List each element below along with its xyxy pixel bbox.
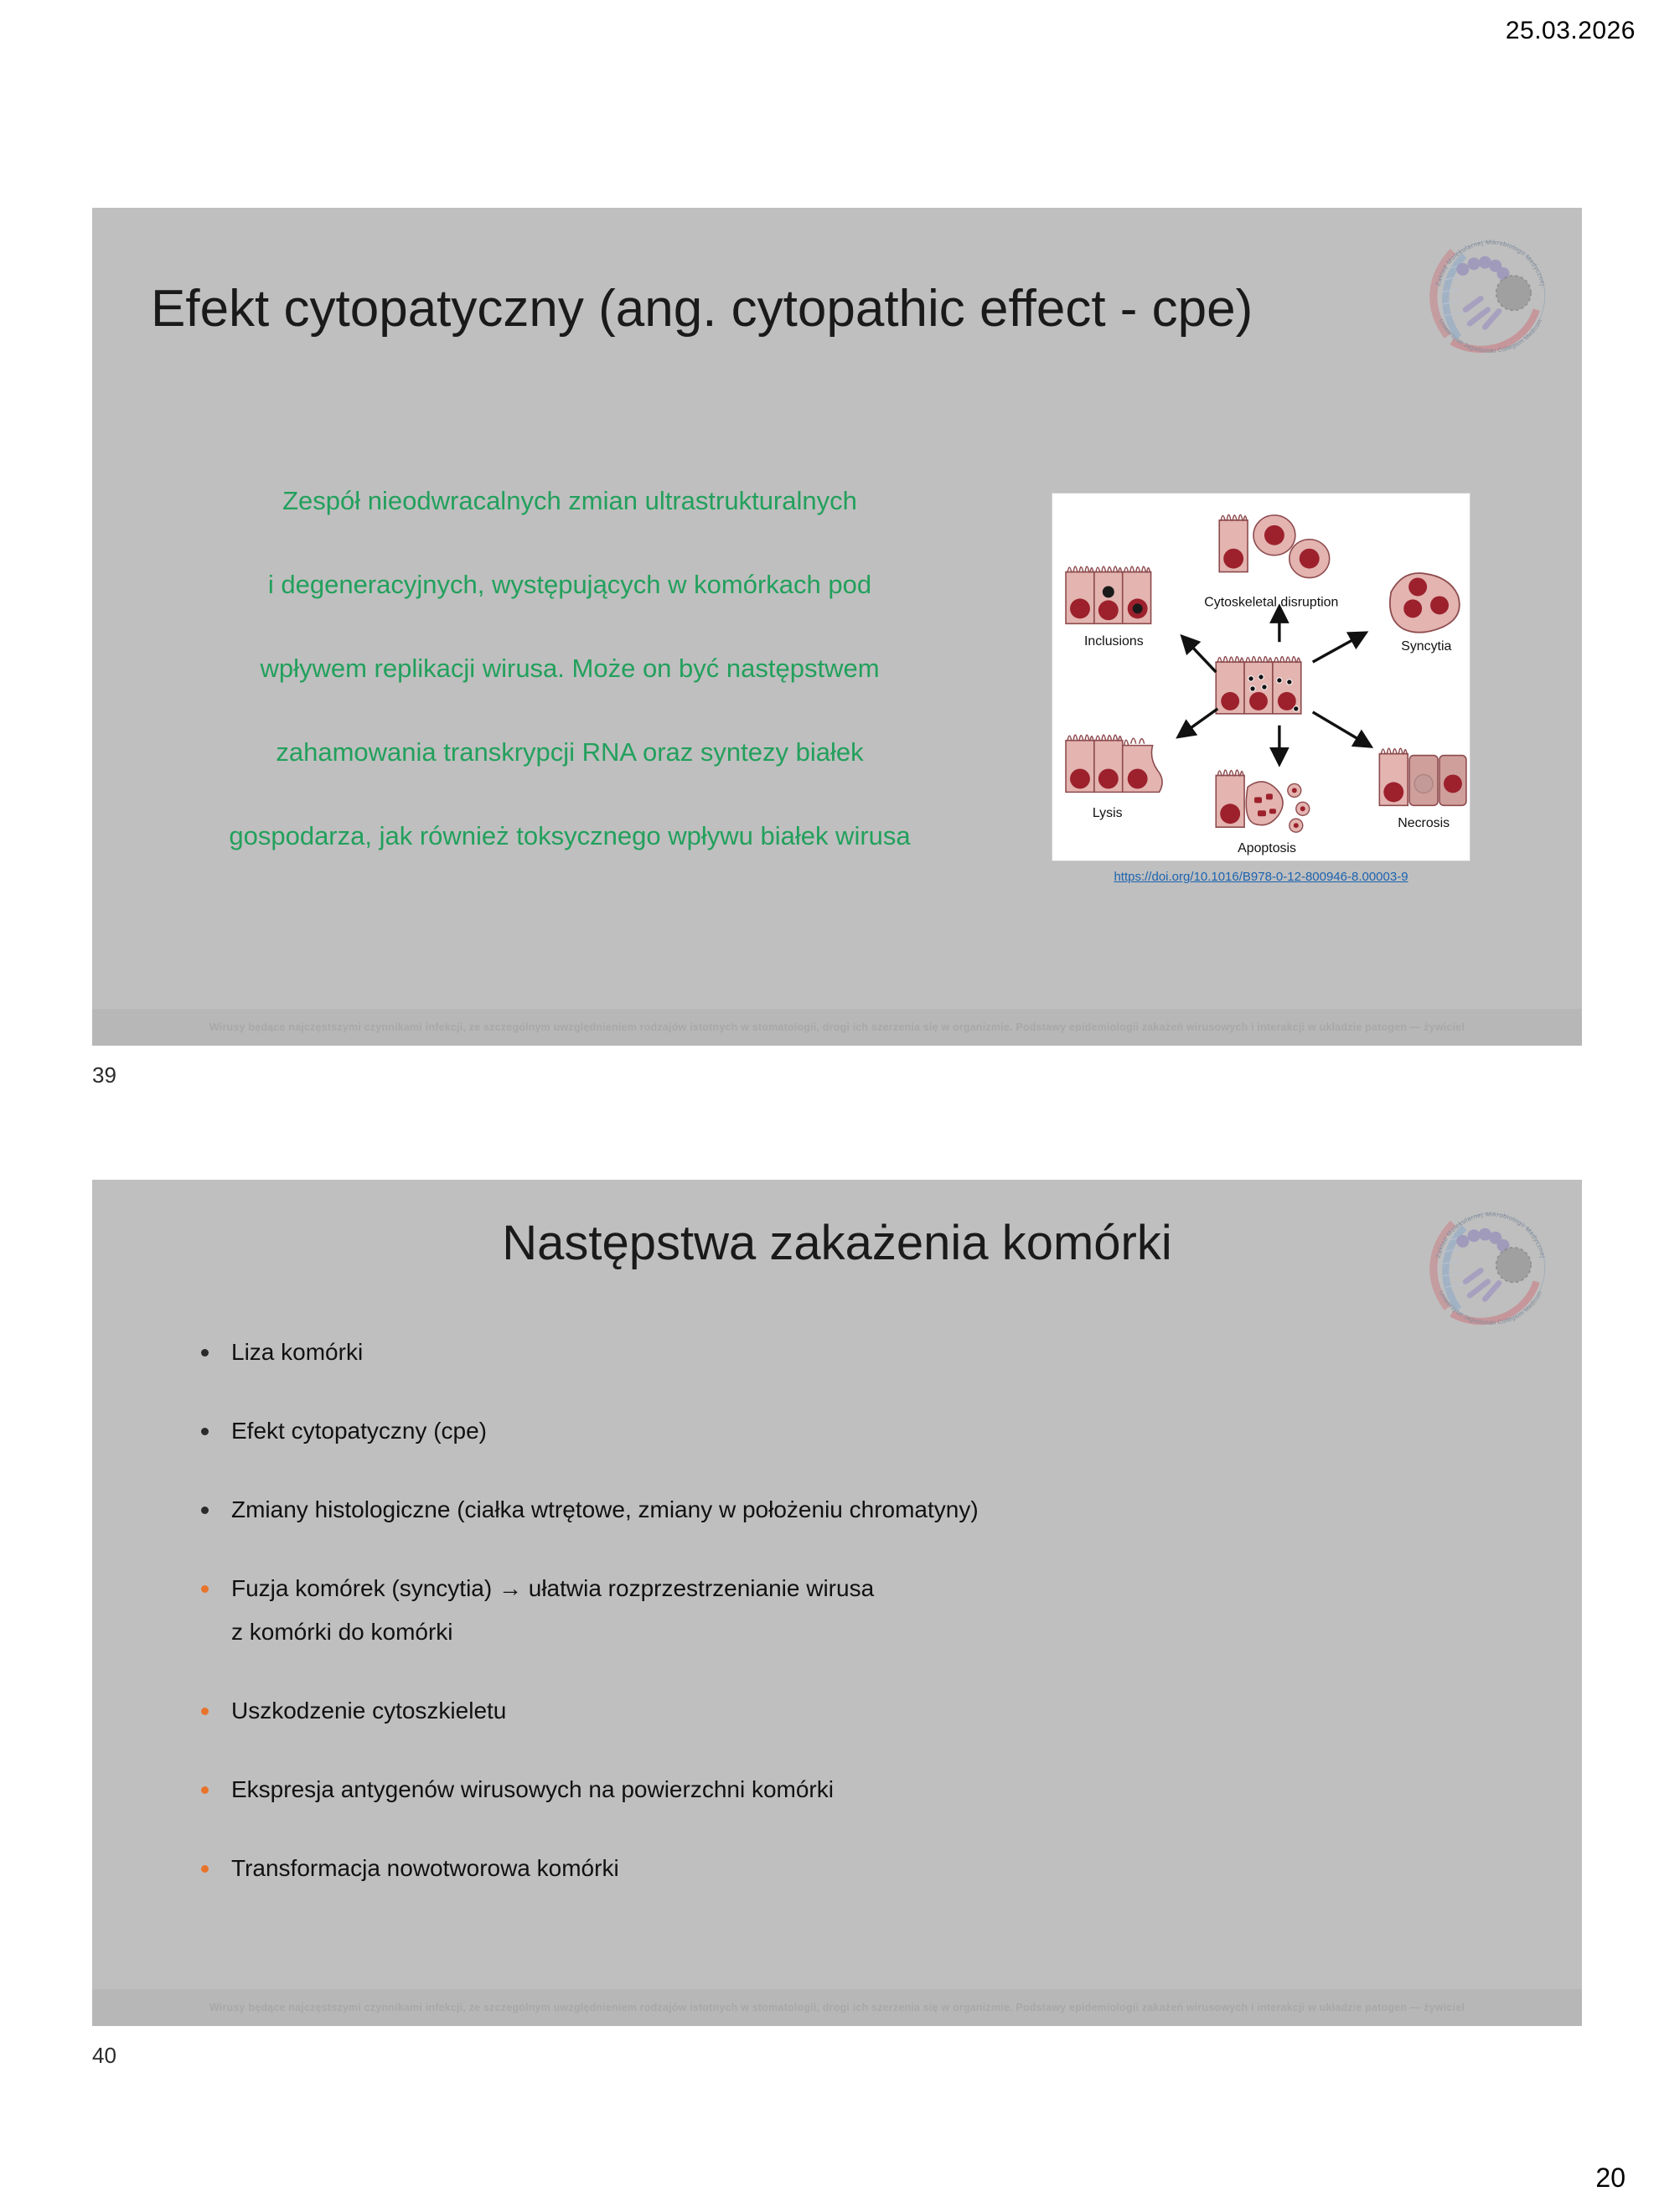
slide-number-39: 39 [92, 1062, 116, 1088]
slide-39: Zakład Molekularnej Mikrobiologii Medycz… [92, 208, 1582, 1046]
slide-39-body: Zespół nieodwracalnych zmian ultrastrukt… [109, 459, 1031, 878]
body-line: zahamowania transkrypcji RNA oraz syntez… [109, 711, 1031, 794]
figure-label-cytoskeletal-disruption: Cytoskeletal disruption [1204, 595, 1338, 609]
bullet-marker-icon [201, 1585, 209, 1593]
figure-label-syncytia: Syncytia [1401, 639, 1451, 654]
body-line: wpływem replikacji wirusa. Może on być n… [109, 627, 1031, 711]
slide-number-40: 40 [92, 2043, 116, 2069]
body-line: i degeneracyjnych, występujących w komór… [109, 543, 1031, 627]
slide-40-title: Następstwa zakażenia komórki [92, 1215, 1582, 1271]
list-item: Transformacja nowotworowa komórki [193, 1847, 1332, 1890]
slide-39-title: Efekt cytopatyczny (ang. cytopathic effe… [151, 279, 1253, 339]
university-logo: Zakład Molekularnej Mikrobiologii Medycz… [1421, 226, 1560, 365]
list-item: Liza komórki [193, 1331, 1332, 1374]
slide-39-footer: Wirusy będące najczęstszymi czynnikami i… [92, 1009, 1582, 1046]
document-page-number: 20 [1595, 2163, 1625, 2194]
slide-40: Zakład Molekularnej Mikrobiologii Medycz… [92, 1180, 1582, 2026]
figure-label-inclusions: Inclusions [1084, 634, 1144, 649]
document-date: 25.03.2026 [1506, 17, 1636, 45]
bullet-marker-icon [201, 1865, 209, 1873]
bullet-marker-icon [201, 1428, 209, 1435]
figure-label-apoptosis: Apoptosis [1238, 841, 1296, 855]
list-item-label: Ekspresja antygenów wirusowych na powier… [231, 1776, 834, 1802]
list-item: Ekspresja antygenów wirusowych na powier… [193, 1768, 1332, 1811]
footer-text: Wirusy będące najczęstszymi czynnikami i… [209, 2002, 1465, 2013]
list-item-label: Transformacja nowotworowa komórki [231, 1855, 619, 1881]
list-item-label: Fuzja komórek (syncytia) → ułatwia rozpr… [231, 1567, 1332, 1610]
figure-label-necrosis: Necrosis [1398, 816, 1450, 830]
cytopathic-effect-figure: Inclusions Cytoskeletal disruption [1052, 493, 1470, 861]
figure-source-link[interactable]: https://doi.org/10.1016/B978-0-12-800946… [1052, 870, 1470, 884]
document-page: 25.03.2026 [0, 0, 1659, 2212]
list-item: Fuzja komórek (syncytia) → ułatwia rozpr… [193, 1567, 1332, 1654]
list-item: Uszkodzenie cytoszkieletu [193, 1689, 1332, 1733]
list-item-label: Liza komórki [231, 1339, 363, 1365]
list-item-label: Efekt cytopatyczny (cpe) [231, 1418, 487, 1444]
list-item: Efekt cytopatyczny (cpe) [193, 1409, 1332, 1453]
list-item-continuation: z komórki do komórki [231, 1610, 1332, 1654]
bullet-marker-icon [201, 1507, 209, 1514]
body-line: gospodarza, jak również toksycznego wpły… [109, 794, 1031, 878]
logo-graphic: Zakład Molekularnej Mikrobiologii Medycz… [1421, 226, 1560, 365]
cytopathic-effect-diagram: Inclusions Cytoskeletal disruption [1052, 494, 1470, 861]
footer-text: Wirusy będące najczęstszymi czynnikami i… [209, 1021, 1465, 1033]
bullet-marker-icon [201, 1349, 209, 1357]
body-line: Zespół nieodwracalnych zmian ultrastrukt… [109, 459, 1031, 543]
bullet-marker-icon [201, 1708, 209, 1715]
slide-40-bullet-list: Liza komórki Efekt cytopatyczny (cpe) Zm… [193, 1331, 1332, 1925]
slide-40-footer: Wirusy będące najczęstszymi czynnikami i… [92, 1989, 1582, 2026]
bullet-marker-icon [201, 1786, 209, 1794]
list-item-label: Zmiany histologiczne (ciałka wtrętowe, z… [231, 1496, 979, 1522]
list-item: Zmiany histologiczne (ciałka wtrętowe, z… [193, 1488, 1332, 1532]
figure-label-lysis: Lysis [1093, 806, 1123, 820]
list-item-label: Uszkodzenie cytoszkieletu [231, 1698, 506, 1724]
